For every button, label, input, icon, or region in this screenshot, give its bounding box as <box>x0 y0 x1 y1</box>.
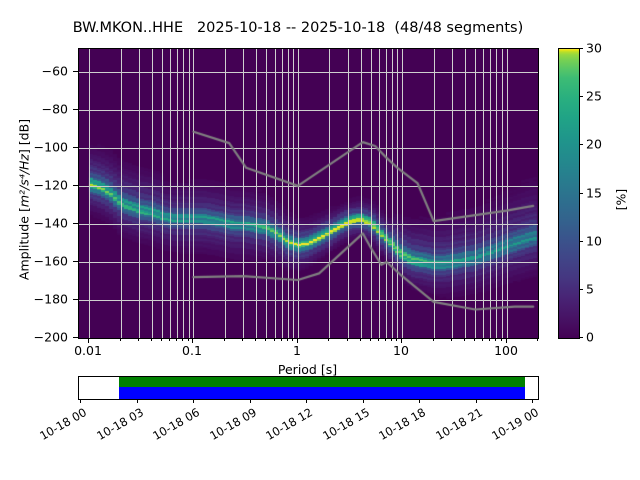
x-axis-tick <box>182 338 183 341</box>
x-axis-tick <box>176 338 177 341</box>
y-axis-tick <box>73 109 78 110</box>
colorbar-tick-label: 30 <box>586 41 602 56</box>
x-axis-tick <box>433 338 434 341</box>
colorbar-tick <box>579 48 583 49</box>
timeline-tick-label: 10-18 15 <box>311 405 372 448</box>
x-axis-tick <box>370 338 371 341</box>
colorbar-tick-label: 25 <box>586 89 602 104</box>
colorbar-tick <box>579 193 583 194</box>
y-axis-tick <box>73 223 78 224</box>
timeline-tick-label: 10-18 21 <box>424 405 485 448</box>
x-axis-tick <box>151 338 152 341</box>
timeline-tick-label: 10-18 00 <box>28 405 89 448</box>
x-axis-tick <box>242 338 243 341</box>
colorbar-tick-label: 5 <box>586 282 594 297</box>
y-axis-label: Amplitude [m²/s⁴/Hz] [dB] <box>17 55 32 345</box>
y-axis-tick <box>73 261 78 262</box>
psd-segments-band <box>119 387 525 398</box>
x-axis-tick <box>328 338 329 341</box>
x-axis-tick-label: 1 <box>293 343 301 358</box>
x-axis-tick <box>391 338 392 341</box>
x-axis-tick <box>274 338 275 341</box>
x-axis-tick <box>482 338 483 341</box>
x-axis-tick <box>169 338 170 341</box>
y-axis-tick <box>73 337 78 338</box>
timeline-tick <box>80 399 81 403</box>
colorbar-tick <box>579 96 583 97</box>
y-axis-label-post: ] [dB] <box>17 119 32 154</box>
gridline-horizontal <box>79 338 538 339</box>
x-axis-tick <box>120 338 121 341</box>
colorbar-tick <box>579 337 583 338</box>
x-axis-tick <box>224 338 225 341</box>
timeline-tick-label: 10-18 06 <box>141 405 202 448</box>
ppsd-axes <box>78 48 539 339</box>
x-axis-tick <box>464 338 465 341</box>
x-axis-label: Period [s] <box>78 362 537 377</box>
x-axis-tick <box>501 338 502 341</box>
timeline-tick-label: 10-18 09 <box>198 405 259 448</box>
colorbar <box>558 48 580 339</box>
timeline-tick <box>137 399 138 403</box>
x-axis-tick <box>287 338 288 341</box>
timeline-tick-label: 10-18 12 <box>254 405 315 448</box>
timeline-tick <box>250 399 251 403</box>
x-axis-tick <box>378 338 379 341</box>
timeline-tick <box>532 399 533 403</box>
x-axis-tick <box>265 338 266 341</box>
colorbar-tick <box>579 241 583 242</box>
x-axis-tick <box>188 338 189 341</box>
colorbar-tick <box>579 289 583 290</box>
x-axis-tick <box>281 338 282 341</box>
x-axis-tick-label: 0.01 <box>74 343 102 358</box>
timeline-tick <box>193 399 194 403</box>
x-axis-tick <box>138 338 139 341</box>
x-axis-tick <box>161 338 162 341</box>
x-axis-tick <box>292 338 293 341</box>
x-axis-tick <box>255 338 256 341</box>
x-axis-tick <box>396 338 397 341</box>
figure-title: BW.MKON..HHE 2025-10-18 -- 2025-10-18 (4… <box>0 20 596 36</box>
x-axis-tick <box>360 338 361 341</box>
x-axis-tick <box>451 338 452 341</box>
x-axis-tick <box>489 338 490 341</box>
timeline-tick <box>306 399 307 403</box>
colorbar-label: [%] <box>614 140 629 260</box>
ppsd-figure: BW.MKON..HHE 2025-10-18 -- 2025-10-18 (4… <box>0 0 640 480</box>
colorbar-tick-label: 20 <box>586 137 602 152</box>
data-available-band <box>119 377 525 387</box>
x-axis-tick-label: 10 <box>393 343 409 358</box>
x-axis-tick <box>385 338 386 341</box>
timeline-tick <box>419 399 420 403</box>
x-axis-tick <box>347 338 348 341</box>
colorbar-tick-label: 10 <box>586 234 602 249</box>
colorbar-tick-label: 0 <box>586 330 594 345</box>
x-axis-tick <box>537 338 538 341</box>
colorbar-tick-label: 15 <box>586 186 602 201</box>
y-axis-label-pre: Amplitude [ <box>17 207 32 280</box>
noise-model-curves <box>79 49 538 338</box>
y-axis-tick <box>73 147 78 148</box>
x-axis-tick-label: 0.1 <box>182 343 202 358</box>
y-axis-tick <box>73 185 78 186</box>
timeline-tick <box>363 399 364 403</box>
gridline-vertical <box>538 49 539 338</box>
x-axis-tick-label: 100 <box>494 343 518 358</box>
timeline-tick-label: 10-18 18 <box>367 405 428 448</box>
x-axis-tick <box>474 338 475 341</box>
timeline-axes <box>78 376 539 400</box>
y-axis-tick <box>73 71 78 72</box>
y-axis-label-math: m²/s⁴/Hz <box>17 154 32 207</box>
timeline-tick <box>476 399 477 403</box>
timeline-tick-label: 10-18 03 <box>85 405 146 448</box>
y-axis-tick <box>73 299 78 300</box>
colorbar-tick <box>579 144 583 145</box>
x-axis-tick <box>495 338 496 341</box>
timeline-tick-label: 10-19 00 <box>480 405 541 448</box>
